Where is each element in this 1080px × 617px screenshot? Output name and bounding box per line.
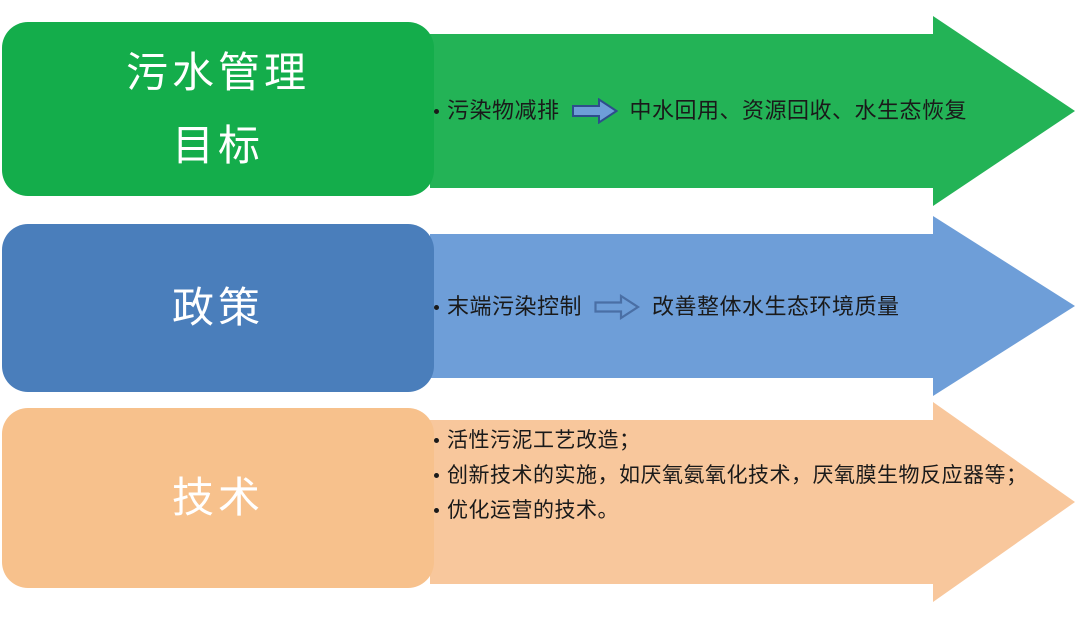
bullet-text: 活性污泥工艺改造； — [447, 430, 641, 451]
bullet-item: 末端污染控制 改善整体水生态环境质量 — [434, 294, 900, 320]
right-arrow-icon — [594, 294, 640, 320]
bullet-item: 污染物减排 中水回用、资源回收、水生态恢复 — [434, 98, 967, 124]
bullet-text-after: 中水回用、资源回收、水生态恢复 — [630, 100, 968, 122]
diagram-row-policy: 政策 末端污染控制 改善整体水生态环境质量 — [0, 212, 1080, 398]
row-label-box-policy: 政策 — [2, 224, 434, 392]
bullet-text: 创新技术的实施，如厌氧氨氧化技术，厌氧膜生物反应器等； — [447, 465, 1028, 486]
bullet-dot-icon — [434, 438, 439, 443]
bullet-dot-icon — [434, 305, 439, 310]
bullet-dot-icon — [434, 508, 439, 513]
bullet-item: 优化运营的技术。 — [434, 500, 1028, 521]
bullet-text: 优化运营的技术。 — [447, 500, 619, 521]
bullet-dot-icon — [434, 109, 439, 114]
process-diagram: 污水管理 目标 污染物减排 中水回用、资源回收、水生态恢复 政策 — [0, 0, 1080, 586]
row-label-line: 技术 — [172, 468, 264, 528]
row-label-box-goal: 污水管理 目标 — [2, 22, 434, 196]
right-arrow-icon — [572, 98, 618, 124]
bullet-text-after: 改善整体水生态环境质量 — [652, 296, 900, 318]
row-content-policy: 末端污染控制 改善整体水生态环境质量 — [434, 294, 900, 320]
bullet-dot-icon — [434, 473, 439, 478]
bullet-item: 活性污泥工艺改造； — [434, 430, 1028, 451]
row-label-box-tech: 技术 — [2, 408, 434, 588]
row-content-goal: 污染物减排 中水回用、资源回收、水生态恢复 — [434, 98, 967, 124]
bullet-text-before: 污染物减排 — [447, 100, 560, 122]
row-content-tech: 活性污泥工艺改造； 创新技术的实施，如厌氧氨氧化技术，厌氧膜生物反应器等； 优化… — [434, 430, 1028, 521]
row-label-line: 目标 — [172, 109, 264, 183]
diagram-row-goal: 污水管理 目标 污染物减排 中水回用、资源回收、水生态恢复 — [0, 0, 1080, 212]
bullet-item: 创新技术的实施，如厌氧氨氧化技术，厌氧膜生物反应器等； — [434, 465, 1028, 486]
diagram-row-tech: 技术 活性污泥工艺改造； 创新技术的实施，如厌氧氨氧化技术，厌氧膜生物反应器等；… — [0, 398, 1080, 586]
bullet-text-before: 末端污染控制 — [447, 296, 582, 318]
row-label-line: 政策 — [172, 278, 264, 338]
row-label-line: 污水管理 — [126, 36, 310, 110]
